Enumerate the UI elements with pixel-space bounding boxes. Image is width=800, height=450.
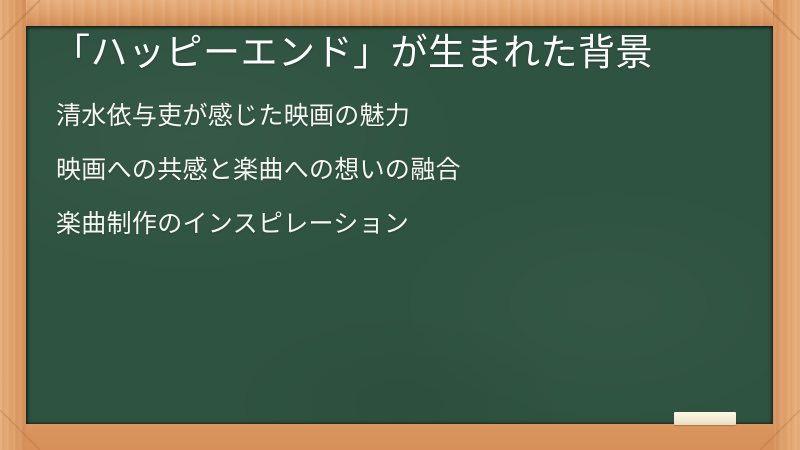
slide-content: 「ハッピーエンド」が生まれた背景 清水依与吏が感じた映画の魅力 映画への共感と楽…: [26, 26, 773, 424]
frame-rail-bottom: [0, 424, 800, 450]
frame-rail-left: [0, 0, 26, 450]
bullet-item-1: 清水依与吏が感じた映画の魅力: [56, 104, 746, 129]
bullet-list: 清水依与吏が感じた映画の魅力 映画への共感と楽曲への想いの融合 楽曲制作のインス…: [56, 104, 746, 266]
chalkboard-surface: 「ハッピーエンド」が生まれた背景 清水依与吏が感じた映画の魅力 映画への共感と楽…: [26, 26, 773, 424]
chalk-eraser-icon: [674, 412, 736, 425]
bullet-item-2: 映画への共感と楽曲への想いの融合: [56, 158, 746, 183]
frame-rail-top: [0, 0, 800, 26]
frame-rail-right: [773, 0, 800, 450]
slide-title: 「ハッピーエンド」が生まれた背景: [53, 30, 653, 75]
bullet-item-3: 楽曲制作のインスピレーション: [56, 212, 746, 237]
blackboard-slide: 「ハッピーエンド」が生まれた背景 清水依与吏が感じた映画の魅力 映画への共感と楽…: [0, 0, 800, 450]
